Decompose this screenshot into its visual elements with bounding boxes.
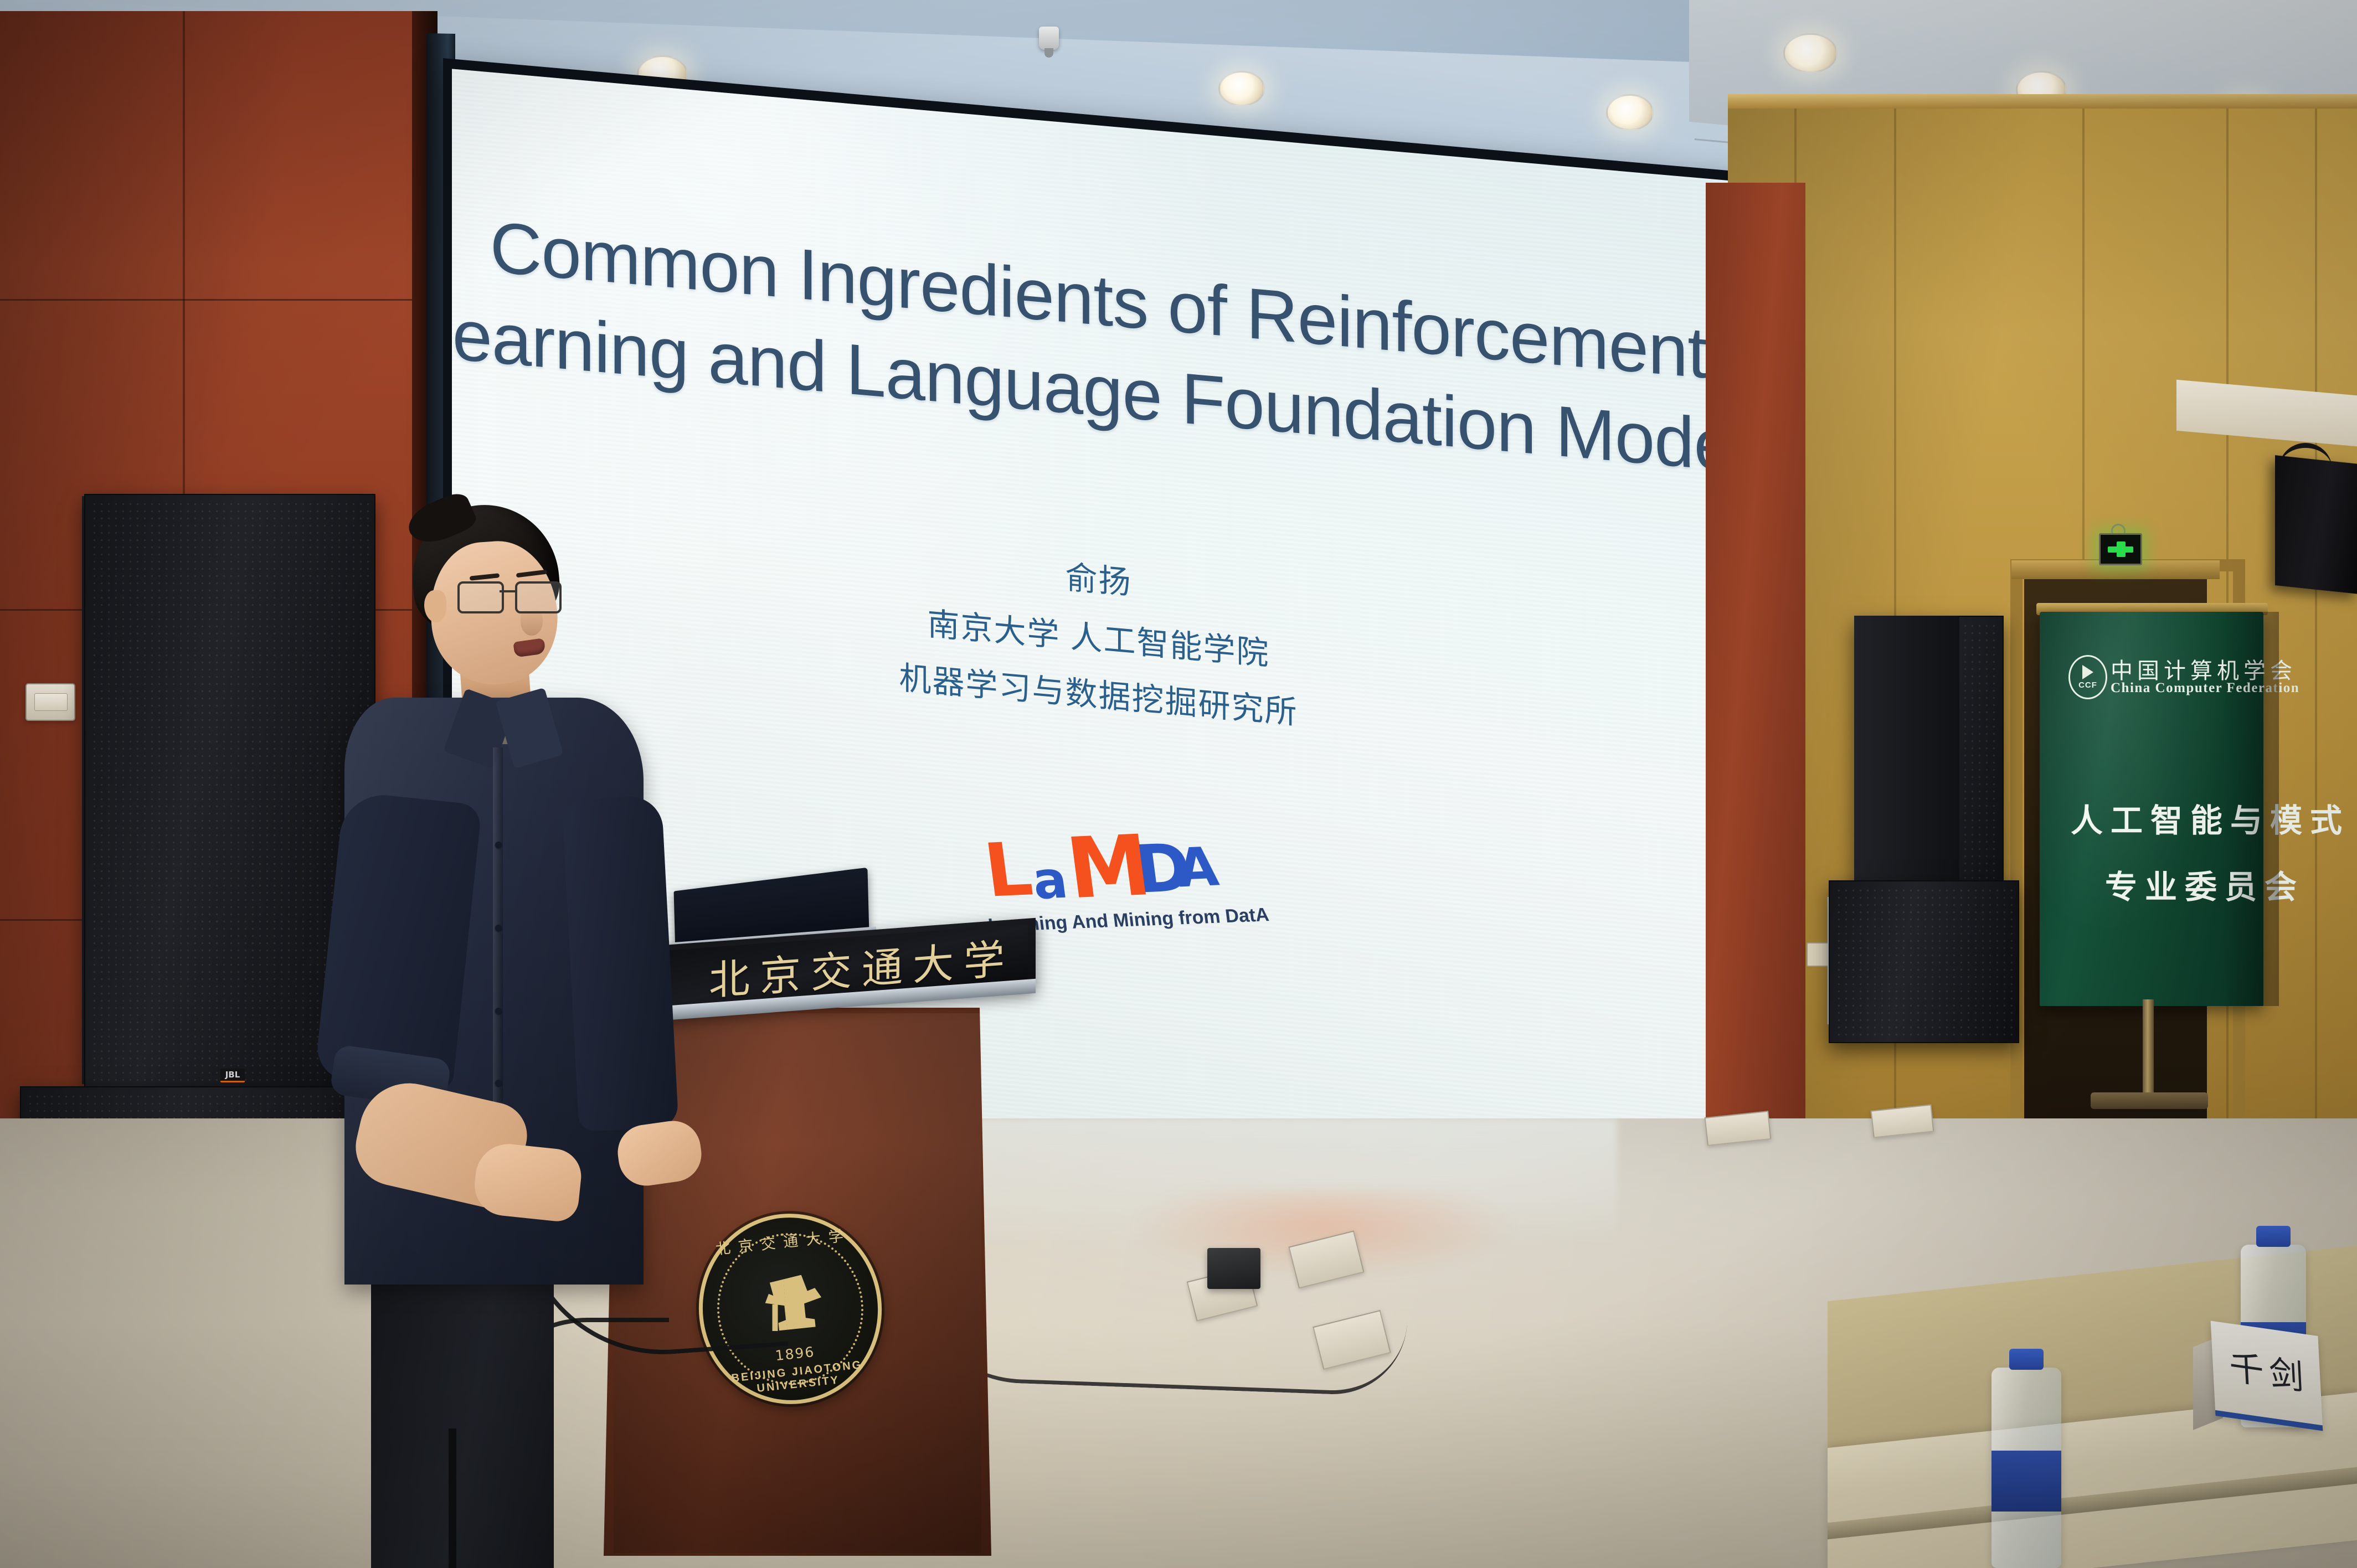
presenter-arm-right xyxy=(562,795,678,1132)
presenter xyxy=(310,487,753,1539)
slide-author: 俞扬 xyxy=(1065,551,1131,603)
shirt-button xyxy=(495,1080,502,1086)
presenter-leg-seam xyxy=(449,1428,456,1568)
exit-sign xyxy=(2099,533,2142,565)
downlight-icon xyxy=(1218,71,1265,106)
light-switch-rocker[interactable] xyxy=(34,693,68,711)
ccf-logo-text: CCF xyxy=(2078,680,2097,690)
banner-pole xyxy=(2143,999,2154,1099)
shirt-button xyxy=(495,1008,502,1014)
speaker-grille xyxy=(1835,887,2013,1036)
banner-fold-shadow xyxy=(2222,612,2279,1006)
presenter-ear xyxy=(424,590,446,622)
shirt-button xyxy=(495,842,502,848)
water-bottle[interactable] xyxy=(1991,1368,2061,1568)
downlight-icon xyxy=(1606,94,1654,131)
running-man-exit-icon xyxy=(2106,539,2135,559)
lamda-letter-l: L xyxy=(980,833,1036,908)
wall-light-switch[interactable] xyxy=(25,683,75,721)
downlight-icon xyxy=(1783,33,1838,73)
glasses-lens-left xyxy=(457,581,504,613)
lamda-wordmark: L a M D A xyxy=(975,821,1222,909)
red-wood-pillar xyxy=(1706,183,1805,1246)
photograph-scene: Common Ingredients of Reinforcement Lear… xyxy=(0,0,2357,1568)
ccf-banner-stand: CCF 中国计算机学会 China Computer Federation 人工… xyxy=(2024,612,2274,1033)
glasses-bridge xyxy=(500,590,516,592)
glasses-lens-right xyxy=(515,581,562,613)
placard-name-text: 千剑 xyxy=(2228,1339,2310,1400)
wall-mounted-speaker xyxy=(2275,455,2357,594)
banner-committee-line-1: 人工智能与模式 xyxy=(2071,795,2350,841)
presenter-glasses xyxy=(457,581,563,611)
presenter-legs xyxy=(371,1262,554,1568)
subwoofer-right xyxy=(1829,880,2019,1043)
speaker-brand-badge: JBL xyxy=(220,1069,245,1082)
shirt-button xyxy=(495,925,502,931)
bottle-cap[interactable] xyxy=(2009,1349,2044,1370)
bottle-label xyxy=(1991,1451,2061,1512)
sprinkler-head-icon xyxy=(1039,27,1059,50)
bottle-cap[interactable] xyxy=(2256,1226,2291,1247)
ccf-logo-icon: CCF xyxy=(2068,655,2107,699)
placard-face: 千剑 xyxy=(2211,1321,2323,1431)
tan-wall-top-trim xyxy=(1728,94,2357,109)
ccf-banner-cloth: CCF 中国计算机学会 China Computer Federation 人工… xyxy=(2040,612,2263,1006)
ccf-logo-triangle-icon xyxy=(2082,665,2093,679)
presenter-hand-left xyxy=(472,1141,584,1223)
lamda-letter-a1: a xyxy=(1030,854,1071,907)
lamda-letter-a2: A xyxy=(1174,840,1221,895)
banner-base xyxy=(2091,1092,2208,1109)
name-placard: 千剑 xyxy=(2193,1329,2320,1420)
